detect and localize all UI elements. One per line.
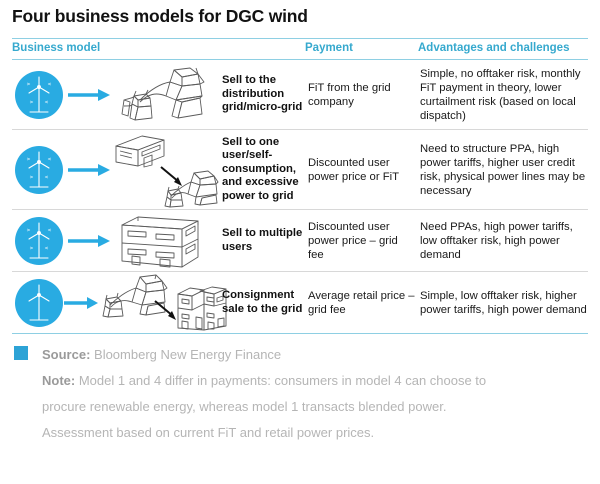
advantages-text: Simple, no offtaker risk, monthly FiT pa… [420, 67, 592, 123]
payment-text: Discounted user power price or FiT [308, 156, 416, 184]
model-label: Sell to multiple users [222, 227, 306, 254]
model-label: Sell to the distribution grid/micro-grid [222, 74, 306, 114]
model-label-cell: Consignment sale to the grid [222, 272, 306, 333]
row-diagram [12, 272, 222, 333]
payment-text: Discounted user power price – grid fee [308, 220, 416, 262]
transmission-tower-icon [162, 170, 224, 208]
model-label: Sell to one user/self-consumption, and e… [222, 136, 306, 203]
advantages-text: Need PPAs, high power tariffs, low offta… [420, 220, 592, 262]
row-diagram [12, 60, 222, 129]
factory-icon [112, 134, 172, 168]
advantages-cell: Need PPAs, high power tariffs, low offta… [420, 210, 592, 271]
wind-turbine-icon [14, 216, 64, 266]
note-label: Note: [42, 373, 75, 388]
arrow-right-icon [68, 233, 110, 249]
arrow-right-icon [64, 295, 98, 311]
row-diagram [12, 210, 222, 271]
column-header-advantages: Advantages and challenges [418, 42, 569, 54]
model-label-cell: Sell to multiple users [222, 210, 306, 271]
payment-text: Average retail price – grid fee [308, 289, 416, 317]
figure-root: Four business models for DGC wind Busine… [0, 0, 600, 484]
advantages-text: Need to structure PPA, high power tariff… [420, 142, 592, 198]
source-label: Source: [42, 347, 90, 362]
row-diagram [12, 130, 222, 209]
payment-text: FiT from the grid company [308, 81, 416, 109]
advantages-cell: Need to structure PPA, high power tariff… [420, 130, 592, 209]
payment-cell: Discounted user power price or FiT [308, 130, 416, 209]
advantages-cell: Simple, low offtaker risk, higher power … [420, 272, 592, 333]
table-header-row: Business model Payment Advantages and ch… [12, 39, 588, 59]
model-label: Consignment sale to the grid [222, 289, 306, 316]
arrow-right-icon [68, 162, 110, 178]
column-header-business-model: Business model [12, 42, 100, 54]
source-bullet-icon [14, 346, 28, 360]
payment-cell: FiT from the grid company [308, 60, 416, 129]
model-label-cell: Sell to one user/self-consumption, and e… [222, 130, 306, 209]
table-row: Sell to one user/self-consumption, and e… [12, 130, 588, 210]
advantages-cell: Simple, no offtaker risk, monthly FiT pa… [420, 60, 592, 129]
wind-turbine-icon [14, 145, 64, 195]
page-title: Four business models for DGC wind [12, 6, 308, 27]
footnotes: Source: Bloomberg New Energy Finance Not… [12, 342, 588, 446]
table-row: Sell to multiple users Discounted user p… [12, 210, 588, 272]
buildings-icon [112, 215, 204, 269]
business-models-table: Business model Payment Advantages and ch… [12, 38, 588, 334]
source-value: Bloomberg New Energy Finance [90, 347, 281, 362]
table-row: Sell to the distribution grid/micro-grid… [12, 60, 588, 130]
wind-turbine-icon [14, 70, 64, 120]
payment-cell: Discounted user power price – grid fee [308, 210, 416, 271]
source-line: Source: Bloomberg New Energy Finance [42, 342, 588, 368]
note-line: Note: Model 1 and 4 differ in payments: … [42, 368, 512, 446]
note-value: Model 1 and 4 differ in payments: consum… [42, 373, 486, 440]
wind-turbine-icon [14, 278, 64, 328]
payment-cell: Average retail price – grid fee [308, 272, 416, 333]
transmission-tower-icon [112, 66, 216, 124]
model-label-cell: Sell to the distribution grid/micro-grid [222, 60, 306, 129]
table-row: Consignment sale to the grid Average ret… [12, 272, 588, 334]
advantages-text: Simple, low offtaker risk, higher power … [420, 289, 592, 317]
arrow-right-icon [68, 87, 110, 103]
column-header-payment: Payment [305, 42, 353, 54]
